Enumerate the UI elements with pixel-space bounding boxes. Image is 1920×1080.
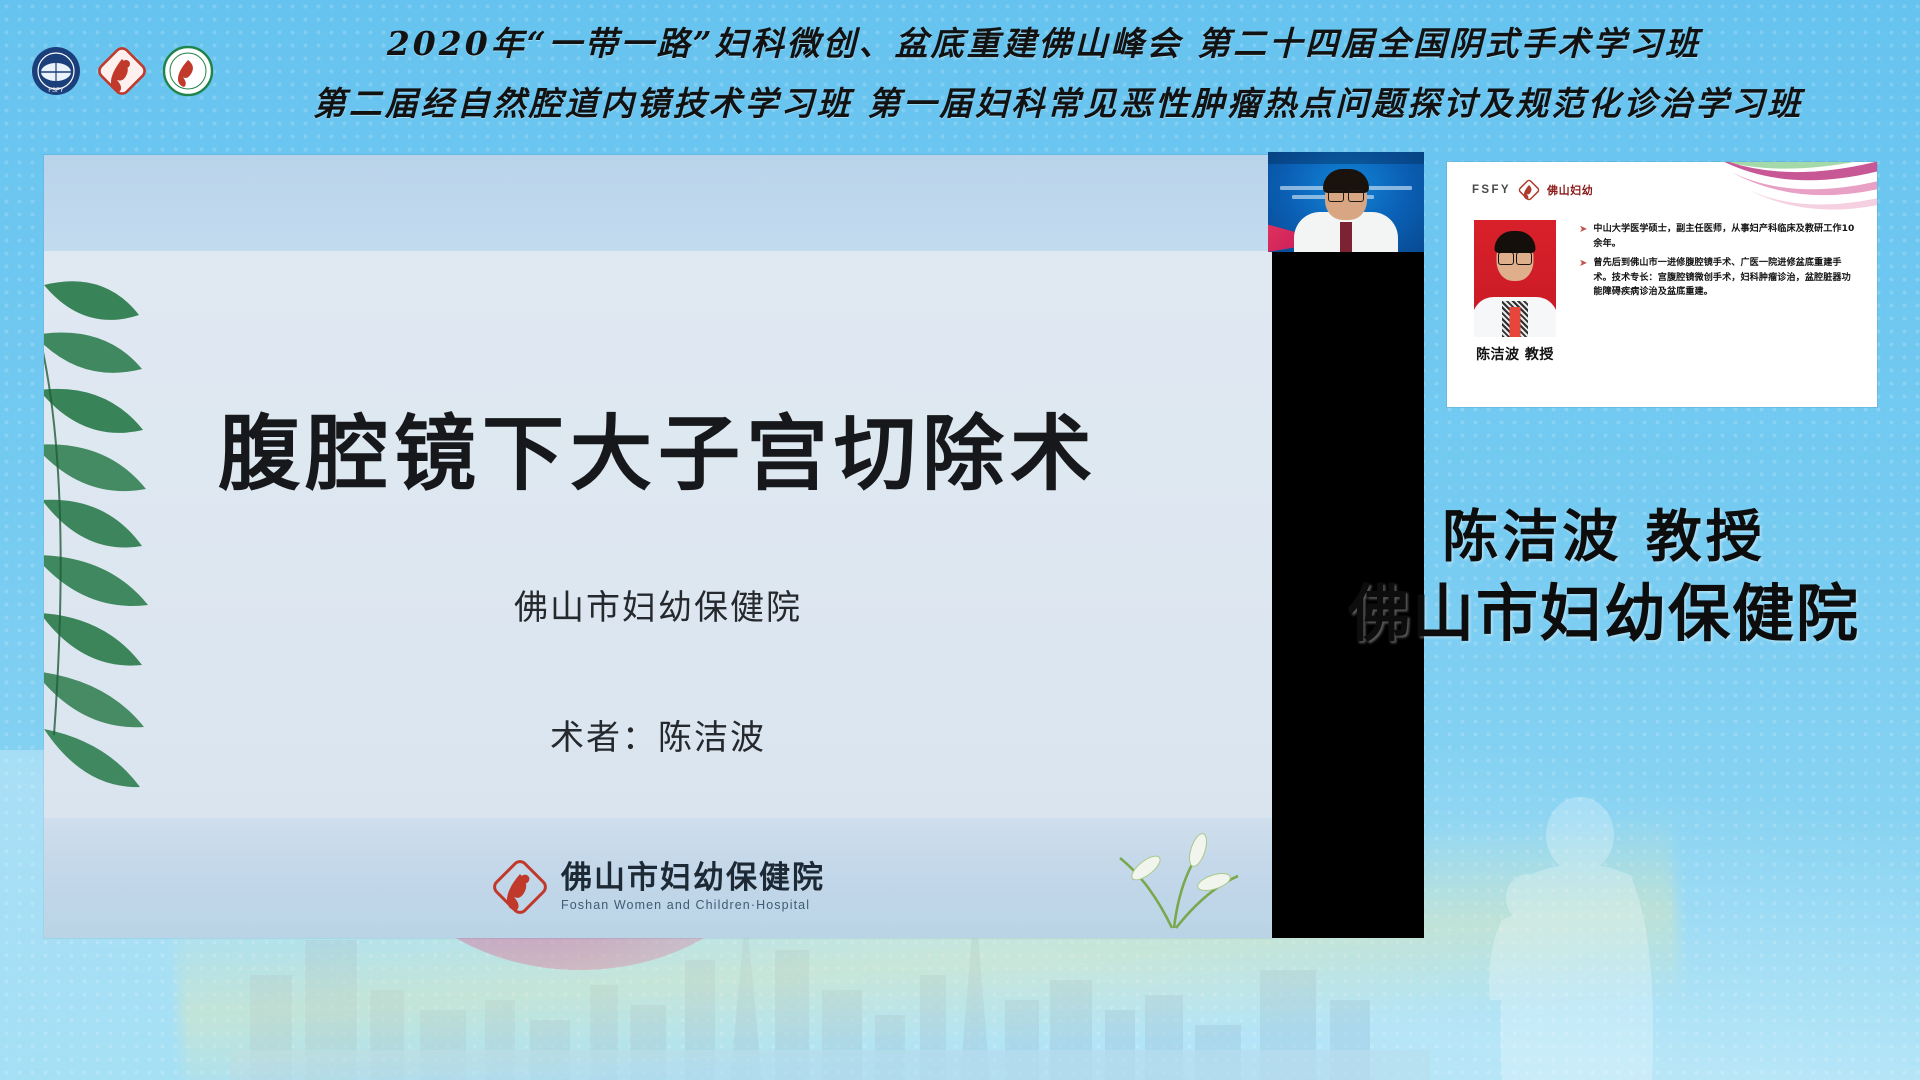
header-title-line-1: 2020年“一带一路”妇科微创、盆底重建佛山峰会 第二十四届全国阴式手术学习班 [194,14,1894,74]
speaker-webcam-feed[interactable] [1268,152,1424,252]
bio-bullet-text: 中山大学医学硕士，副主任医师，从事妇产科临床及教研工作10余年。 [1593,222,1857,251]
broadcast-stage: FSFY 2020年“一带一路”妇科微创、盆底重建佛山峰会 第二十四届全国阴式手… [0,0,1920,1080]
grass-decoration [1102,810,1252,930]
bio-brand-abbr: FSFY [1472,184,1511,196]
slide-footer-logo-cn: 佛山市妇幼保健院 [561,862,825,895]
slide-footer-logo-text: 佛山市妇幼保健院 Foshan Women and Children·Hospi… [561,862,825,912]
header-title-block: 2020年“一带一路”妇科微创、盆底重建佛山峰会 第二十四届全国阴式手术学习班 … [200,14,1900,134]
presentation-slide[interactable]: 腹腔镜下大子宫切除术 佛山市妇幼保健院 术者：陈洁波 佛山市妇幼保健院 Fosh… [44,155,1272,938]
bio-bullet-text: 曾先后到佛山市一进修腹腔镜手术、广医一院进修盆底重建手术。技术专长：宫腹腔镜微创… [1593,256,1857,300]
conference-header: FSFY 2020年“一带一路”妇科微创、盆底重建佛山峰会 第二十四届全国阴式手… [0,0,1920,148]
speaker-portrait-photo [1474,220,1556,337]
webcam-speaker-tie [1340,222,1352,252]
fsfy-diamond-red-icon [96,45,148,97]
portrait-hair [1495,231,1536,253]
slide-footer-logo-en: Foshan Women and Children·Hospital [561,898,825,912]
header-title-line-2: 第二届经自然腔道内镜技术学习班 第一届妇科常见恶性肿瘤热点问题探讨及规范化诊治学… [208,74,1908,134]
slide-footer-logo: 佛山市妇幼保健院 Foshan Women and Children·Hospi… [491,858,825,916]
speaker-overlay-caption: 陈洁波 教授 佛山市妇幼保健院 [1294,500,1914,654]
bio-bullet-item: ➤ 曾先后到佛山市一进修腹腔镜手术、广医一院进修盆底重建手术。技术专长：宫腹腔镜… [1579,256,1857,300]
bullet-arrow-icon: ➤ [1579,222,1587,251]
mother-child-statue-silhouette [1420,780,1720,1080]
bio-brand-cn: 佛山妇幼 [1547,182,1593,198]
speaker-name-caption: 陈洁波 教授 [1474,344,1556,364]
speaker-bio-bullet-list: ➤ 中山大学医学硕士，副主任医师，从事妇产科临床及教研工作10余年。 ➤ 曾先后… [1579,222,1857,305]
slide-presenter-line: 术者：陈洁波 [44,710,1272,759]
speaker-bio-panel[interactable]: FSFY 佛山妇幼 陈洁波 教授 ➤ 中山大学医学硕士，副主任医师，从事妇产科临… [1447,162,1877,407]
overlay-affiliation: 佛山市妇幼保健院 [1294,574,1914,654]
bullet-arrow-icon: ➤ [1579,256,1587,300]
fsfy-small-logo-icon [1518,179,1540,201]
slide-subtitle: 佛山市妇幼保健院 [44,580,1272,629]
portrait-tie [1510,307,1521,337]
portrait-glasses-icon [1498,252,1532,263]
bio-brand-header: FSFY 佛山妇幼 [1472,179,1593,201]
webcam-top-banner [1268,152,1424,164]
svg-text:FSFY: FSFY [48,88,63,94]
webcam-speaker-glasses-icon [1328,190,1364,200]
header-logo-group: FSFY [30,45,214,97]
hospital-emblem-blue-icon: FSFY [30,45,82,97]
fsfy-logo-mark-icon [491,858,549,916]
slide-title: 腹腔镜下大子宫切除术 [44,387,1272,506]
overlay-name-title: 陈洁波 教授 [1294,500,1914,574]
bio-bullet-item: ➤ 中山大学医学硕士，副主任医师，从事妇产科临床及教研工作10余年。 [1579,222,1857,251]
